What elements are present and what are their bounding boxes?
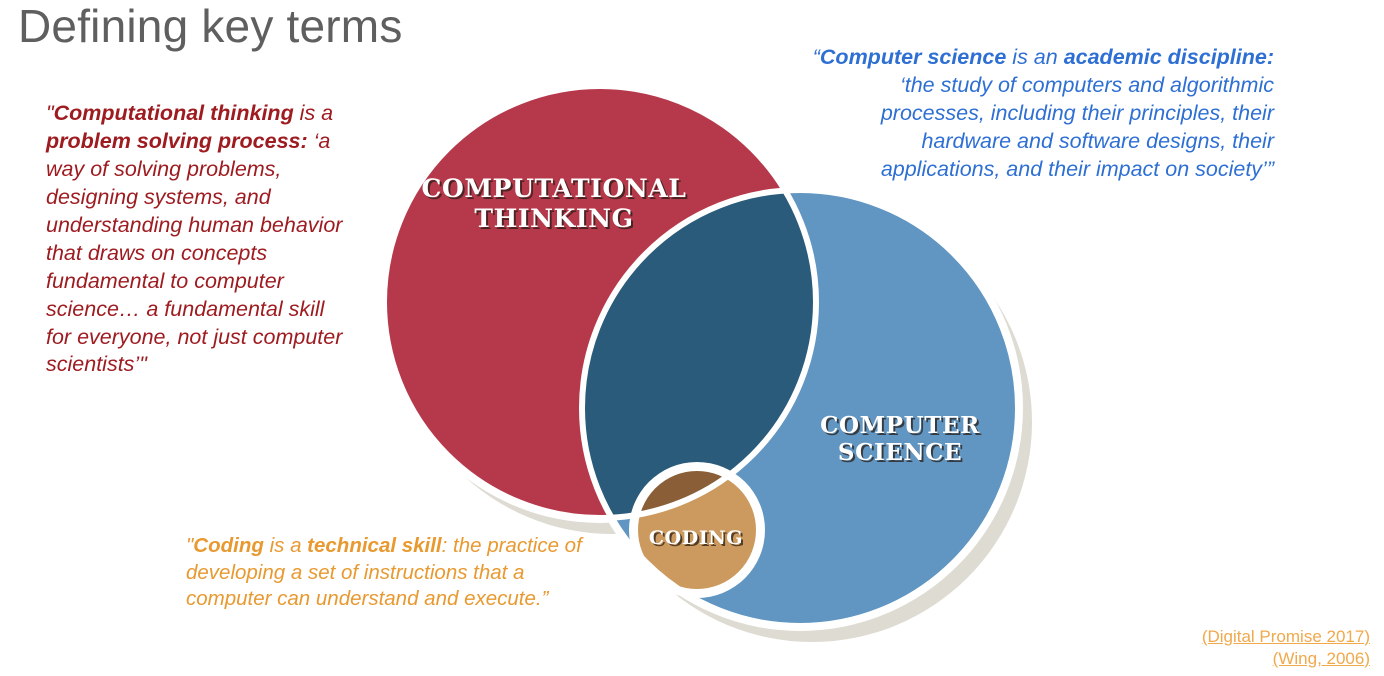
quote-ct-connector: is a — [294, 101, 333, 125]
citation-list: (Digital Promise 2017) (Wing, 2006) — [1202, 626, 1370, 670]
quote-cs-connector: is an — [1006, 45, 1063, 69]
citation-link-digital-promise[interactable]: (Digital Promise 2017) — [1202, 626, 1370, 648]
quote-cs-bold-definition: academic discipline: — [1064, 45, 1274, 69]
quote-cs-body: ‘the study of computers and algorithmic … — [881, 73, 1274, 181]
quote-ct-bold-term: Computational thinking — [54, 101, 294, 125]
quote-cs-bold-term: Computer science — [820, 45, 1006, 69]
quote-computer-science: “Computer science is an academic discipl… — [806, 44, 1274, 184]
quote-cod-connector: is a — [264, 534, 307, 557]
citation-link-wing[interactable]: (Wing, 2006) — [1202, 648, 1370, 670]
quote-coding: "Coding is a technical skill: the practi… — [186, 533, 606, 613]
quote-cod-bold-definition: technical skill — [307, 534, 441, 557]
quote-ct-body: ‘a way of solving problems, designing sy… — [46, 129, 342, 377]
quote-ct-open-quote: " — [46, 101, 54, 125]
quote-cod-bold-term: Coding — [193, 534, 264, 557]
quote-computational-thinking: "Computational thinking is a problem sol… — [46, 100, 346, 379]
quote-ct-bold-definition: problem solving process: — [46, 129, 308, 153]
quote-cs-open-quote: “ — [813, 45, 820, 69]
slide-canvas: Defining key terms — [0, 0, 1384, 676]
